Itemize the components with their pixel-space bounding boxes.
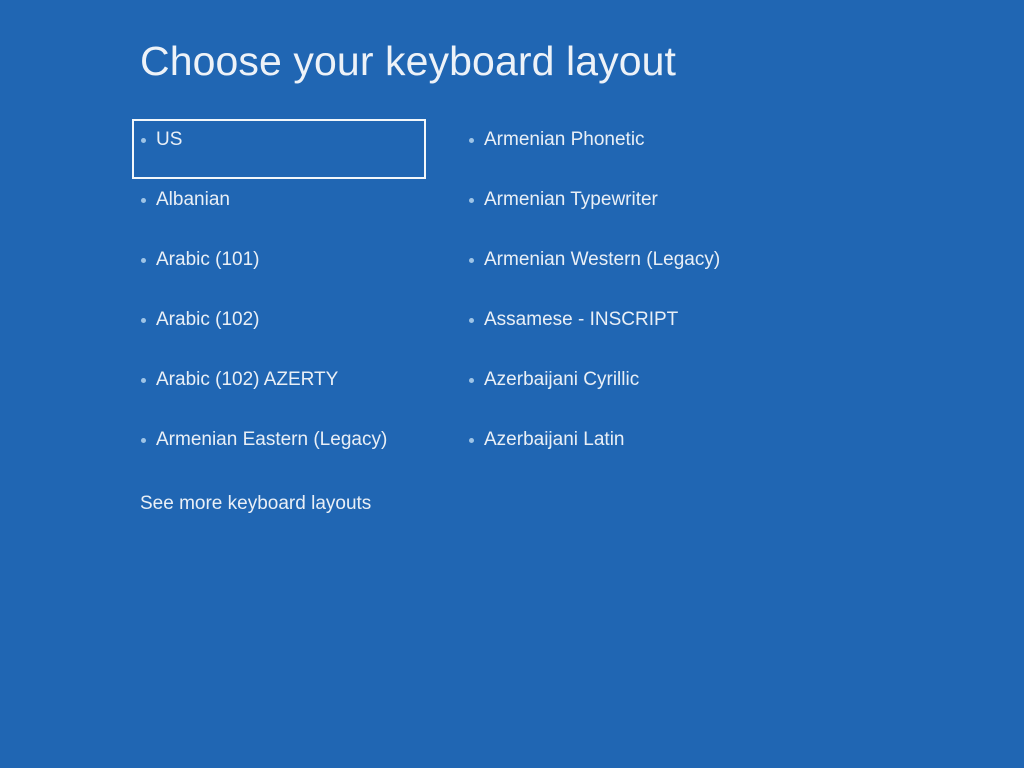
keyboard-layout-column-left: USAlbanianArabic (101)Arabic (102)Arabic… bbox=[132, 119, 426, 479]
keyboard-layout-option-label: Arabic (102) AZERTY bbox=[156, 368, 338, 392]
bullet-dot-icon bbox=[141, 438, 146, 443]
keyboard-layout-option[interactable]: Assamese - INSCRIPT bbox=[460, 299, 790, 359]
bullet-dot-icon bbox=[469, 258, 474, 263]
keyboard-layout-option[interactable]: Armenian Eastern (Legacy) bbox=[132, 419, 426, 479]
keyboard-layout-option[interactable]: Azerbaijani Cyrillic bbox=[460, 359, 790, 419]
keyboard-layout-option[interactable]: Armenian Phonetic bbox=[460, 119, 790, 179]
bullet-dot-icon bbox=[141, 258, 146, 263]
bullet-dot-icon bbox=[141, 378, 146, 383]
bullet-dot-icon bbox=[469, 198, 474, 203]
keyboard-layout-option-label: Armenian Eastern (Legacy) bbox=[156, 428, 387, 452]
bullet-dot-icon bbox=[469, 438, 474, 443]
keyboard-layout-option-label: Azerbaijani Latin bbox=[484, 428, 624, 452]
bullet-dot-icon bbox=[469, 378, 474, 383]
bullet-dot-icon bbox=[141, 138, 146, 143]
keyboard-layout-option-label: Armenian Typewriter bbox=[484, 188, 658, 212]
keyboard-layout-option[interactable]: US bbox=[132, 119, 426, 179]
keyboard-layout-screen: Choose your keyboard layout USAlbanianAr… bbox=[0, 0, 1024, 768]
bullet-dot-icon bbox=[469, 138, 474, 143]
keyboard-layout-option[interactable]: Arabic (101) bbox=[132, 239, 426, 299]
keyboard-layout-option-label: Assamese - INSCRIPT bbox=[484, 308, 678, 332]
page-title: Choose your keyboard layout bbox=[140, 38, 676, 85]
keyboard-layout-option[interactable]: Azerbaijani Latin bbox=[460, 419, 790, 479]
keyboard-layout-option-label: Armenian Western (Legacy) bbox=[484, 248, 720, 272]
keyboard-layout-option[interactable]: Arabic (102) bbox=[132, 299, 426, 359]
bullet-dot-icon bbox=[469, 318, 474, 323]
keyboard-layout-column-right: Armenian PhoneticArmenian TypewriterArme… bbox=[460, 119, 790, 479]
keyboard-layout-option-label: Azerbaijani Cyrillic bbox=[484, 368, 639, 392]
see-more-keyboard-layouts-link[interactable]: See more keyboard layouts bbox=[140, 492, 371, 516]
bullet-dot-icon bbox=[141, 198, 146, 203]
keyboard-layout-option-label: Arabic (102) bbox=[156, 308, 260, 332]
keyboard-layout-option[interactable]: Arabic (102) AZERTY bbox=[132, 359, 426, 419]
bullet-dot-icon bbox=[141, 318, 146, 323]
keyboard-layout-option-label: US bbox=[156, 128, 182, 152]
keyboard-layout-option-label: Albanian bbox=[156, 188, 230, 212]
keyboard-layout-option[interactable]: Armenian Western (Legacy) bbox=[460, 239, 790, 299]
keyboard-layout-option[interactable]: Armenian Typewriter bbox=[460, 179, 790, 239]
keyboard-layout-option-label: Arabic (101) bbox=[156, 248, 260, 272]
keyboard-layout-option-label: Armenian Phonetic bbox=[484, 128, 645, 152]
keyboard-layout-option[interactable]: Albanian bbox=[132, 179, 426, 239]
